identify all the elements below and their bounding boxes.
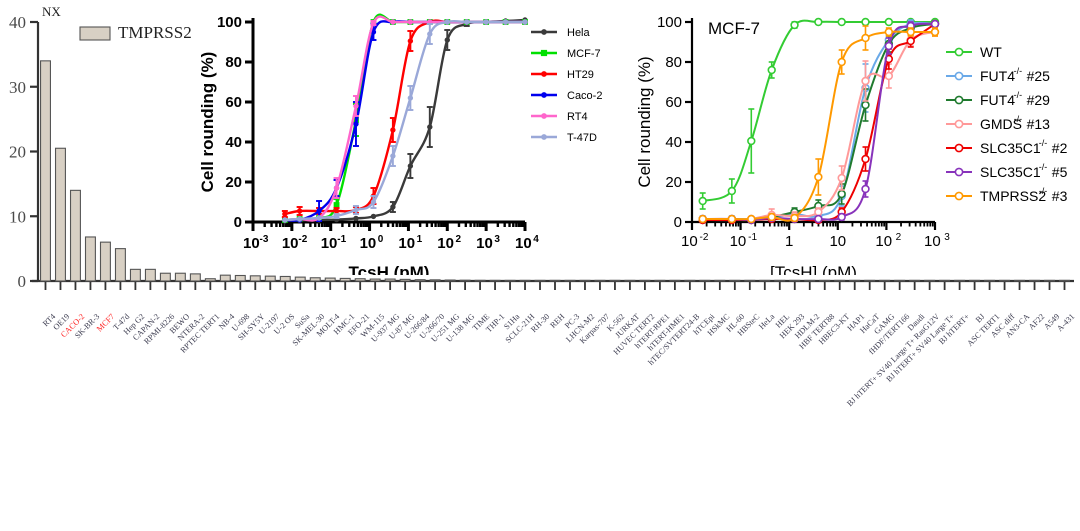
bar-chart-bar	[715, 280, 725, 281]
x-tick-label: 100	[360, 234, 384, 252]
bar-chart-bar	[580, 280, 590, 281]
x-tick-label: 10-2	[681, 232, 709, 250]
bar-chart-bar	[520, 280, 530, 281]
legend-item-t-47d[interactable]: T-47D	[531, 132, 597, 144]
x-tick-label: 103	[476, 234, 500, 252]
bar-chart-bar	[1000, 280, 1010, 281]
legend-panel-c: WTFUT4-/- #25FUT4-/- #29GMDS-/- #13SLC35…	[946, 44, 1068, 204]
curves-panel-c	[699, 19, 938, 224]
bar-chart-legend: TMPRSS2	[80, 23, 192, 42]
bar-chart-bar	[670, 280, 680, 281]
bar-chart-legend-label: TMPRSS2	[118, 23, 192, 42]
curves-panel-b	[282, 15, 528, 223]
legend-item-slc35c1[interactable]: SLC35C1-/- #2	[946, 138, 1068, 156]
bar-chart-bar	[985, 280, 995, 281]
bar-chart-bar	[71, 190, 81, 281]
x-tick-label: 102	[875, 232, 901, 250]
x-tick-label: 102	[437, 234, 461, 252]
bar-chart-bar	[1045, 280, 1055, 281]
y-tick-label: 0	[234, 214, 242, 231]
y-tick-label: 0	[674, 214, 682, 231]
dose-response-svg-c: 02040608010010-210-1110102103[TcsH] (pM)…	[630, 0, 1080, 275]
bar-chart-bar	[595, 280, 605, 281]
svg-text:10: 10	[515, 235, 532, 252]
bar-chart-bar	[250, 276, 260, 281]
figure-canvas: 010203040NX TMPRSS2 RT4OE19CACO-2SK-BR-3…	[0, 0, 1080, 444]
bar-chart-bar	[880, 280, 890, 281]
svg-text:1: 1	[417, 234, 423, 245]
bar-chart-bar	[445, 280, 455, 281]
bar-chart-bar	[865, 280, 875, 281]
legend-label-superscript: -/-	[1039, 138, 1048, 148]
y-tick-label: 60	[225, 94, 242, 111]
bar-chart-bar	[910, 280, 920, 281]
bar-chart-bar	[115, 249, 125, 281]
bar-chart-bar	[700, 280, 710, 281]
svg-text:10: 10	[476, 235, 493, 252]
bar-chart-y-tick-label: 20	[9, 143, 26, 162]
bar-chart-bar	[1015, 280, 1025, 281]
svg-text:-2: -2	[298, 234, 307, 245]
legend-label-suffix: #3	[1052, 188, 1068, 204]
x-tick-label: 103	[924, 232, 950, 250]
legend-label-suffix: #5	[1052, 164, 1068, 180]
legend-label: Caco-2	[567, 90, 602, 102]
legend-label: SLC35C1	[980, 164, 1041, 180]
y-tick-label: 20	[225, 174, 242, 191]
y-tick-label: 40	[225, 134, 242, 151]
legend-label: TMPRSS2	[980, 188, 1046, 204]
bar-chart-bar	[505, 280, 515, 281]
y-tick-label: 80	[665, 54, 682, 71]
bar-chart-bar	[400, 279, 410, 281]
bar-chart-bar	[100, 242, 110, 281]
svg-text:10: 10	[398, 235, 415, 252]
legend-item-rt4[interactable]: RT4	[531, 111, 588, 123]
bar-chart-bar	[160, 273, 170, 281]
legend-label: Hela	[567, 27, 591, 39]
x-tick-label: 10-1	[321, 234, 347, 252]
bar-chart-bar	[460, 280, 470, 281]
svg-text:-1: -1	[337, 234, 346, 245]
legend-label: T-47D	[567, 132, 597, 144]
svg-text:10: 10	[282, 235, 299, 252]
bar-chart-bar	[610, 280, 620, 281]
legend-item-mcf-7[interactable]: MCF-7	[531, 48, 601, 60]
bar-chart-y-tick-label: 40	[9, 13, 26, 32]
x-tick-label: 10-1	[730, 232, 758, 250]
bar-chart-bar	[280, 276, 290, 281]
bar-chart-bar	[775, 280, 785, 281]
legend-label: WT	[980, 44, 1002, 60]
bar-chart-tick-label-band: RT4OE19CACO-2SK-BR-3MCF7T-47dHep G2CAPAN…	[0, 296, 1080, 444]
dose-response-panel-mcf7-knockouts: 02040608010010-210-1110102103[TcsH] (pM)…	[630, 0, 1080, 275]
legend-label: RT4	[567, 111, 588, 123]
bar-chart-bar	[370, 279, 380, 281]
legend-label-superscript: -/-	[1014, 90, 1023, 100]
x-tick-label: 1	[785, 233, 793, 250]
bar-chart-bar	[86, 237, 96, 281]
legend-item-fut4[interactable]: FUT4-/- #25	[946, 66, 1050, 84]
bar-chart-bar	[835, 280, 845, 281]
y-tick-label: 100	[217, 14, 242, 31]
svg-text:10: 10	[875, 233, 892, 250]
svg-text:10: 10	[360, 235, 377, 252]
svg-text:0: 0	[378, 234, 384, 245]
legend-label-superscript: -/-	[1014, 114, 1023, 124]
svg-text:-3: -3	[260, 234, 269, 245]
legend-label: FUT4	[980, 68, 1015, 84]
legend-item-fut4[interactable]: FUT4-/- #29	[946, 90, 1050, 108]
legend-item-tmprss2[interactable]: TMPRSS2-/- #3	[946, 186, 1068, 204]
bar-chart-bar	[41, 61, 51, 281]
legend-item-gmds[interactable]: GMDS-/- #13	[946, 114, 1050, 132]
svg-text:10: 10	[829, 233, 846, 250]
svg-text:2: 2	[456, 234, 462, 245]
bar-chart-y-tick-label: 30	[9, 78, 26, 97]
legend-label: SLC35C1	[980, 140, 1041, 156]
x-tick-label: 10-2	[282, 234, 308, 252]
bar-chart-bar	[790, 280, 800, 281]
dose-response-panel-all-lines: 02040608010010-310-210-1100101102103104T…	[195, 0, 635, 275]
dose-response-svg-b: 02040608010010-310-210-1100101102103104T…	[195, 0, 635, 275]
plot-title-annotation: MCF-7	[708, 19, 760, 38]
bar-chart-bar	[895, 280, 905, 281]
bar-chart-bar	[235, 276, 245, 282]
legend-label-suffix: #25	[1027, 68, 1051, 84]
bar-chart-bar	[655, 280, 665, 281]
bar-chart-bar	[310, 278, 320, 281]
legend-label: FUT4	[980, 92, 1015, 108]
bar-chart-bar	[970, 280, 980, 281]
series-caco-2	[283, 20, 528, 222]
x-tick-label: 10	[829, 233, 846, 250]
bar-chart-bar	[550, 280, 560, 281]
bar-chart-bar	[685, 280, 695, 281]
bar-chart-bar	[355, 279, 365, 281]
x-tick-label: 104	[515, 234, 539, 252]
bar-chart-bar	[535, 280, 545, 281]
svg-text:2: 2	[896, 232, 902, 243]
bar-chart-bar	[265, 276, 275, 281]
bar-chart-bar	[940, 280, 950, 281]
y-tick-label: 60	[665, 94, 682, 111]
x-axis-title: TcsH (pM)	[349, 263, 430, 275]
x-tick-label: 101	[398, 234, 422, 252]
bar-chart-bar	[760, 280, 770, 281]
svg-text:1: 1	[785, 233, 793, 250]
bar-chart-bar	[805, 280, 815, 281]
svg-text:10: 10	[243, 235, 260, 252]
bar-chart-bar	[1060, 280, 1070, 281]
bar-chart-bar	[220, 275, 230, 281]
svg-text:10: 10	[730, 233, 747, 250]
legend-label: MCF-7	[567, 48, 601, 60]
bar-chart-bar	[130, 269, 140, 281]
bar-chart-bar	[340, 278, 350, 281]
legend-label-superscript: -/-	[1039, 186, 1048, 196]
svg-text:-1: -1	[748, 232, 757, 243]
svg-text:4: 4	[533, 234, 539, 245]
series-t-47d	[283, 20, 528, 222]
bar-chart-bar	[430, 280, 440, 281]
legend-label-suffix: #29	[1027, 92, 1051, 108]
y-axis-title: Cell rounding (%)	[198, 52, 217, 193]
legend-label-suffix: #2	[1052, 140, 1068, 156]
svg-text:10: 10	[681, 233, 698, 250]
svg-text:3: 3	[944, 232, 950, 243]
y-axis-title: Cell rounding (%)	[635, 56, 654, 187]
bar-chart-bar	[490, 280, 500, 281]
legend-label: HT29	[567, 69, 594, 81]
legend-panel-b: HelaMCF-7HT29Caco-2RT4T-47D	[531, 27, 602, 144]
legend-item-hela[interactable]: Hela	[531, 27, 591, 39]
legend-item-caco-2[interactable]: Caco-2	[531, 90, 602, 102]
bar-chart-unit-label: NX	[42, 4, 61, 19]
legend-label-superscript: -/-	[1039, 162, 1048, 172]
bar-chart-bar	[145, 269, 155, 281]
bar-chart-bar	[745, 280, 755, 281]
y-tick-label: 80	[225, 54, 242, 71]
bar-chart-bar	[1030, 280, 1040, 281]
legend-label-suffix: #13	[1027, 116, 1051, 132]
bar-chart-y-tick-label: 0	[18, 272, 27, 291]
bar-chart-bar	[475, 280, 485, 281]
bar-chart-bar	[565, 280, 575, 281]
bar-chart-bar	[730, 280, 740, 281]
legend-item-wt[interactable]: WT	[946, 44, 1002, 60]
bar-chart-bar	[850, 280, 860, 281]
bar-chart-bar	[820, 280, 830, 281]
bar-chart-bar	[415, 280, 425, 281]
svg-text:3: 3	[494, 234, 500, 245]
bar-chart-y-tick-label: 10	[9, 207, 26, 226]
bar-chart-bar	[955, 280, 965, 281]
y-tick-label: 40	[665, 134, 682, 151]
bar-chart-legend-swatch	[80, 27, 110, 40]
bar-chart-bar	[925, 280, 935, 281]
bar-chart-bar	[625, 280, 635, 281]
legend-label-superscript: -/-	[1014, 66, 1023, 76]
bar-chart-bar	[175, 273, 185, 281]
legend-item-slc35c1[interactable]: SLC35C1-/- #5	[946, 162, 1068, 180]
bar-chart-bar	[640, 280, 650, 281]
bar-chart-bar	[205, 279, 215, 281]
bar-chart-bar	[325, 278, 335, 281]
bar-chart-bar	[295, 277, 305, 281]
y-tick-label: 20	[665, 174, 682, 191]
x-axis-title: [TcsH] (pM)	[770, 263, 857, 275]
bar-chart-bar	[56, 148, 66, 281]
x-tick-label: 10-3	[243, 234, 269, 252]
svg-text:10: 10	[321, 235, 338, 252]
legend-item-ht29[interactable]: HT29	[531, 69, 594, 81]
svg-text:-2: -2	[700, 232, 709, 243]
y-tick-label: 100	[657, 14, 682, 31]
bar-chart-bar	[385, 279, 395, 281]
svg-text:10: 10	[437, 235, 454, 252]
svg-text:10: 10	[924, 233, 941, 250]
